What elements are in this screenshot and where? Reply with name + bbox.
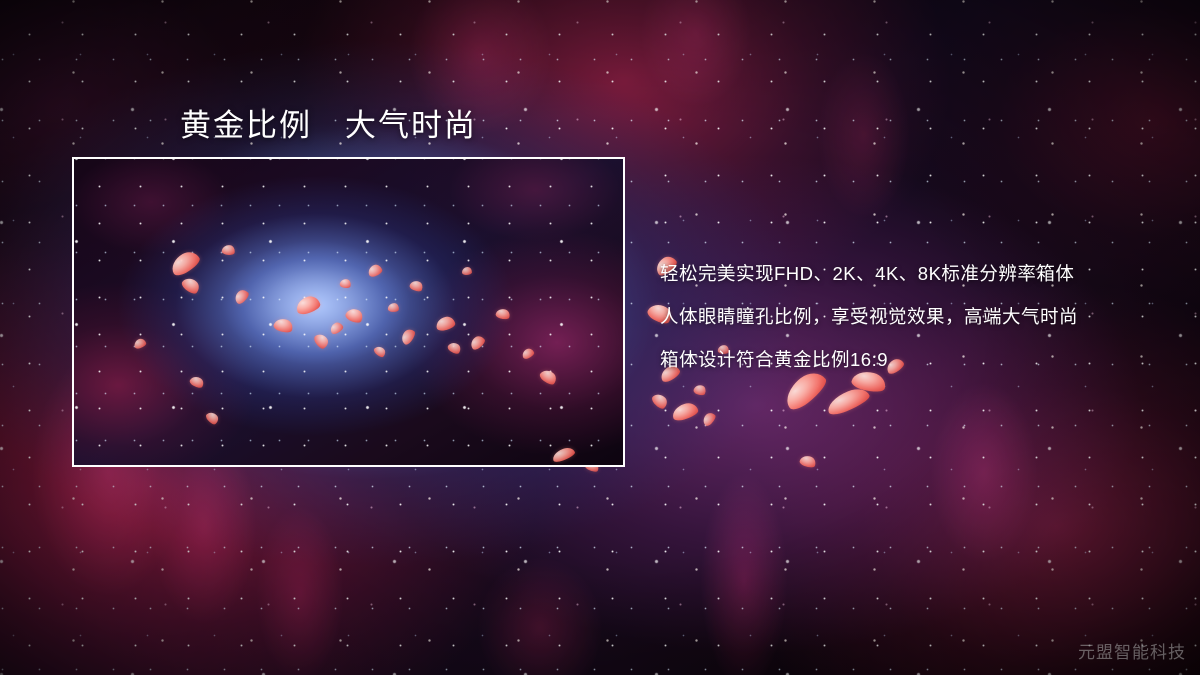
- feature-description-block: 轻松完美实现FHD、2K、4K、8K标准分辨率箱体 人体眼睛瞳孔比例，享受视觉效…: [660, 252, 1160, 381]
- flower-petal: [388, 302, 400, 312]
- page-title: 黄金比例 大气时尚: [180, 100, 477, 145]
- brand-watermark: 元盟智能科技: [1078, 638, 1186, 663]
- slide-canvas: 黄金比例 大气时尚 轻松完美实现FHD、2K、4K、8K标准分辨率箱体 人体眼睛…: [0, 0, 1200, 675]
- framed-image-panel: [72, 157, 625, 467]
- description-line: 轻松完美实现FHD、2K、4K、8K标准分辨率箱体: [660, 252, 1160, 295]
- description-line: 箱体设计符合黄金比例16:9: [660, 338, 1160, 381]
- framed-image-content: [74, 159, 623, 465]
- flower-petal: [462, 267, 472, 275]
- description-line: 人体眼睛瞳孔比例，享受视觉效果，高端大气时尚: [660, 295, 1160, 338]
